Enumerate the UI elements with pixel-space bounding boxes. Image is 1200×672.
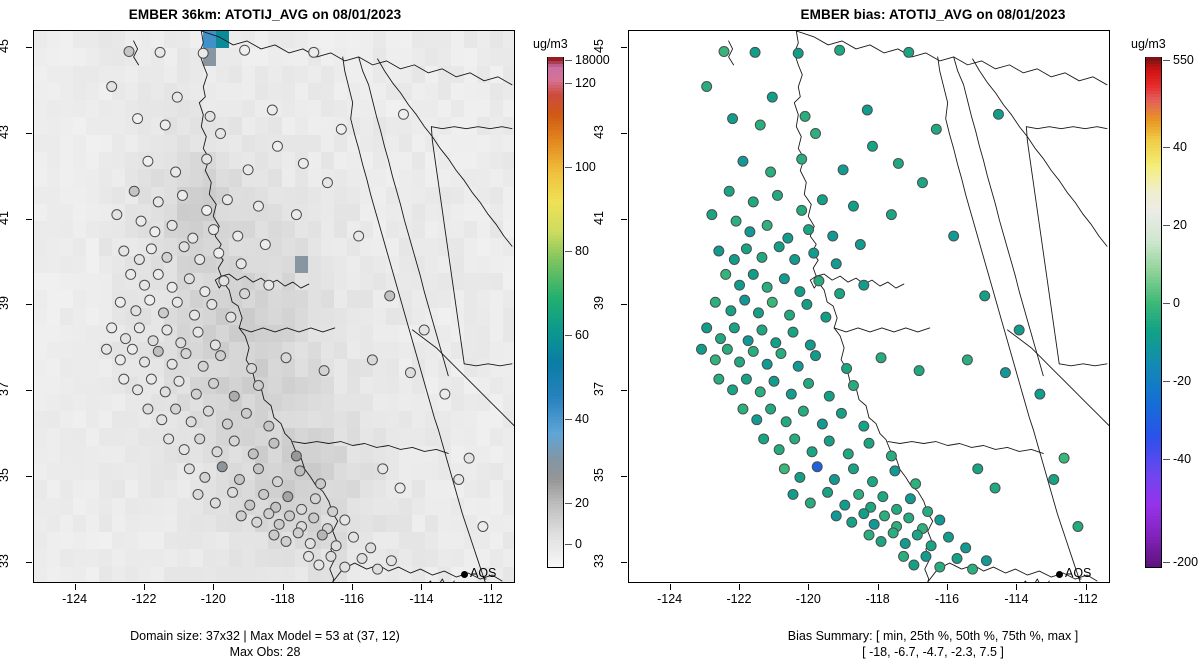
observation-point xyxy=(229,391,239,401)
observation-point xyxy=(721,269,731,279)
observation-point xyxy=(840,500,850,510)
observation-point xyxy=(759,434,769,444)
observation-point xyxy=(795,287,805,297)
observation-point xyxy=(158,308,168,318)
aqs-marker-icon xyxy=(461,571,468,578)
observation-point xyxy=(722,344,732,354)
observation-point xyxy=(878,492,888,502)
colorbar-unit-model: ug/m3 xyxy=(533,37,568,51)
x-axis-label: -122 xyxy=(709,592,769,606)
observation-point xyxy=(980,291,990,301)
observation-point xyxy=(829,474,839,484)
colorbar-tick-label: -40 xyxy=(1173,452,1191,466)
colorbar-tick xyxy=(1163,459,1170,460)
observation-point xyxy=(710,355,720,365)
observation-point xyxy=(1049,474,1059,484)
observation-point xyxy=(148,336,158,346)
observation-point xyxy=(876,353,886,363)
x-axis-tick xyxy=(283,584,284,590)
colorbar-gradient-bias xyxy=(1145,57,1162,568)
observation-point xyxy=(836,408,846,418)
colorbar-tick xyxy=(565,60,572,61)
x-axis-tick xyxy=(670,584,671,590)
observation-point xyxy=(707,210,717,220)
observation-point xyxy=(962,355,972,365)
observation-point xyxy=(179,445,189,455)
aqs-legend-label: AQS xyxy=(470,566,496,580)
colorbar-tick xyxy=(565,503,572,504)
observation-point xyxy=(961,543,971,553)
observation-point xyxy=(322,178,332,188)
y-axis-tick xyxy=(26,476,32,477)
observation-point xyxy=(762,359,772,369)
observation-point xyxy=(184,274,194,284)
observation-point xyxy=(260,240,270,250)
aqs-legend-label: AQS xyxy=(1065,566,1091,580)
observation-point xyxy=(973,464,983,474)
observation-point xyxy=(855,240,865,250)
aqs-observation-points-model xyxy=(34,31,514,582)
observation-point xyxy=(247,363,257,373)
colorbar-tick-label: 0 xyxy=(1173,296,1180,310)
colorbar-tick xyxy=(1163,381,1170,382)
observation-point xyxy=(864,530,874,540)
observation-point xyxy=(783,233,793,243)
y-axis-label: 41 xyxy=(0,198,11,238)
observation-point xyxy=(198,48,208,58)
observation-point xyxy=(304,551,314,561)
observation-point xyxy=(222,419,232,429)
observation-point xyxy=(952,554,962,564)
observation-point xyxy=(757,325,767,335)
observation-point xyxy=(464,453,474,463)
y-axis-label: 37 xyxy=(592,369,606,409)
observation-point xyxy=(131,306,141,316)
observation-point xyxy=(921,551,931,561)
observation-point xyxy=(202,154,212,164)
y-axis-tick xyxy=(26,304,32,305)
observation-point xyxy=(886,210,896,220)
y-axis-tick xyxy=(26,133,32,134)
x-axis-label: -114 xyxy=(986,592,1046,606)
observation-point xyxy=(273,141,283,151)
y-axis-label: 35 xyxy=(0,455,11,495)
observation-point xyxy=(385,291,395,301)
observation-point xyxy=(186,417,196,427)
observation-point xyxy=(1035,389,1045,399)
observation-point xyxy=(779,274,789,284)
observation-point xyxy=(888,528,898,538)
observation-point xyxy=(993,109,1003,119)
observation-point xyxy=(319,366,329,376)
observation-point xyxy=(797,205,807,215)
colorbar-tick-label: 40 xyxy=(575,412,589,426)
observation-point xyxy=(716,334,726,344)
observation-point xyxy=(731,216,741,226)
observation-point xyxy=(847,517,857,527)
figure-canvas: EMBER 36km: ATOTIJ_AVG on 08/01/2023 xyxy=(0,0,1200,672)
colorbar-tick xyxy=(1163,562,1170,563)
observation-point xyxy=(331,541,341,551)
observation-point xyxy=(729,323,739,333)
observation-point xyxy=(793,48,803,58)
observation-point xyxy=(309,513,319,523)
observation-point xyxy=(357,554,367,564)
observation-point xyxy=(366,543,376,553)
colorbar-tick-label: 550 xyxy=(1173,53,1194,67)
observation-point xyxy=(740,295,750,305)
observation-point xyxy=(184,464,194,474)
observation-point xyxy=(234,474,244,484)
y-axis-tick xyxy=(621,390,627,391)
observation-point xyxy=(219,276,229,286)
colorbar-tick xyxy=(565,251,572,252)
aqs-marker-icon xyxy=(1056,571,1063,578)
observation-point xyxy=(762,282,772,292)
observation-point xyxy=(817,195,827,205)
observation-point xyxy=(348,532,358,542)
observation-point xyxy=(217,462,227,472)
observation-point xyxy=(743,336,753,346)
observation-point xyxy=(214,248,224,258)
observation-point xyxy=(405,368,415,378)
observation-point xyxy=(440,389,450,399)
colorbar-tick-label: 20 xyxy=(575,496,589,510)
observation-point xyxy=(121,334,131,344)
observation-point xyxy=(824,391,834,401)
observation-point xyxy=(176,338,186,348)
observation-point xyxy=(811,129,821,139)
observation-point xyxy=(793,361,803,371)
observation-point xyxy=(340,562,350,572)
observation-point xyxy=(726,306,736,316)
observation-point xyxy=(134,254,144,264)
observation-point xyxy=(354,231,364,241)
observation-point xyxy=(714,374,724,384)
caption-bias: Bias Summary: [ min, 25th %, 50th %, 75t… xyxy=(668,628,1198,660)
observation-point xyxy=(297,504,307,514)
observation-point xyxy=(252,517,262,527)
observation-point xyxy=(198,361,208,371)
x-axis-label: -124 xyxy=(640,592,700,606)
colorbar-tick xyxy=(1163,303,1170,304)
observation-point xyxy=(714,246,724,256)
colorbar-tick-label: 20 xyxy=(1173,218,1187,232)
observation-point xyxy=(762,220,772,230)
observation-point xyxy=(757,252,767,262)
observation-point xyxy=(1073,522,1083,532)
x-axis-tick xyxy=(352,584,353,590)
observation-point xyxy=(419,325,429,335)
observation-point xyxy=(253,201,263,211)
observation-point xyxy=(236,259,246,269)
observation-point xyxy=(195,434,205,444)
observation-point xyxy=(200,472,210,482)
aqs-observation-points-bias xyxy=(629,31,1109,582)
observation-point xyxy=(171,167,181,177)
observation-point xyxy=(788,489,798,499)
observation-point xyxy=(317,530,327,540)
observation-point xyxy=(905,494,915,504)
x-axis-label: -120 xyxy=(183,592,243,606)
observation-point xyxy=(143,156,153,166)
observation-point xyxy=(824,436,834,446)
observation-point xyxy=(236,511,246,521)
observation-point xyxy=(127,344,137,354)
observation-point xyxy=(904,47,914,57)
observation-point xyxy=(795,472,805,482)
y-axis-label: 33 xyxy=(592,541,606,581)
observation-point xyxy=(190,310,200,320)
observation-point xyxy=(935,562,945,572)
x-axis-label: -116 xyxy=(322,592,382,606)
observation-point xyxy=(295,466,305,476)
y-axis-tick xyxy=(621,219,627,220)
observation-point xyxy=(248,449,258,459)
observation-point xyxy=(812,462,822,472)
x-axis-label: -118 xyxy=(253,592,313,606)
colorbar-tick xyxy=(565,419,572,420)
observation-point xyxy=(160,120,170,130)
colorbar-tick xyxy=(565,83,572,84)
observation-point xyxy=(129,186,139,196)
observation-point xyxy=(741,374,751,384)
y-axis-tick xyxy=(621,476,627,477)
observation-point xyxy=(800,111,810,121)
observation-point xyxy=(195,254,205,264)
observation-point xyxy=(776,349,786,359)
caption-line-1: Domain size: 37x32 | Max Model = 53 at (… xyxy=(0,628,530,644)
observation-point xyxy=(291,210,301,220)
x-axis-label: -116 xyxy=(917,592,977,606)
observation-point xyxy=(1014,325,1024,335)
observation-point xyxy=(943,532,953,542)
panel-title-bias: EMBER bias: ATOTIJ_AVG on 08/01/2023 xyxy=(668,7,1198,22)
observation-point xyxy=(890,466,900,476)
x-axis-tick xyxy=(213,584,214,590)
observation-point xyxy=(124,47,134,57)
observation-point xyxy=(1059,453,1069,463)
observation-point xyxy=(107,323,117,333)
observation-point xyxy=(862,105,872,115)
observation-point xyxy=(115,355,125,365)
observation-point xyxy=(264,280,274,290)
x-axis-label: -122 xyxy=(114,592,174,606)
observation-point xyxy=(112,210,122,220)
observation-point xyxy=(243,165,253,175)
observation-point xyxy=(848,464,858,474)
observation-point xyxy=(226,312,236,322)
observation-point xyxy=(119,374,129,384)
observation-point xyxy=(838,165,848,175)
observation-point xyxy=(145,295,155,305)
y-axis-tick xyxy=(621,47,627,48)
observation-point xyxy=(134,323,144,333)
colorbar-tick-label: -20 xyxy=(1173,374,1191,388)
observation-point xyxy=(817,419,827,429)
observation-point xyxy=(153,269,163,279)
observation-point xyxy=(748,346,758,356)
observation-point xyxy=(766,167,776,177)
observation-point xyxy=(766,404,776,414)
observation-point xyxy=(395,483,405,493)
observation-point xyxy=(273,477,283,487)
observation-point xyxy=(367,355,377,365)
observation-point xyxy=(876,536,886,546)
y-axis-tick xyxy=(621,133,627,134)
observation-point xyxy=(102,344,112,354)
colorbar-segment xyxy=(1146,57,1161,61)
x-axis-label: -118 xyxy=(848,592,908,606)
x-axis-tick xyxy=(808,584,809,590)
observation-point xyxy=(790,254,800,264)
y-axis-tick xyxy=(26,219,32,220)
observation-point xyxy=(738,404,748,414)
y-axis-tick xyxy=(26,47,32,48)
observation-point xyxy=(136,216,146,226)
panel-bias: EMBER bias: ATOTIJ_AVG on 08/01/2023 xyxy=(600,0,1200,672)
observation-point xyxy=(274,519,284,529)
observation-point xyxy=(880,511,890,521)
observation-point xyxy=(153,197,163,207)
observation-point xyxy=(917,178,927,188)
observation-point xyxy=(209,225,219,235)
observation-point xyxy=(755,120,765,130)
observation-point xyxy=(868,141,878,151)
x-axis-label: -114 xyxy=(391,592,451,606)
observation-point xyxy=(107,82,117,92)
observation-point xyxy=(848,381,858,391)
observation-point xyxy=(240,289,250,299)
x-axis-tick xyxy=(947,584,948,590)
observation-point xyxy=(869,519,879,529)
observation-point xyxy=(340,515,350,525)
observation-point xyxy=(774,445,784,455)
observation-point xyxy=(854,489,864,499)
observation-point xyxy=(328,507,338,517)
observation-point xyxy=(892,504,902,514)
y-axis-label: 43 xyxy=(0,112,11,152)
observation-point xyxy=(336,124,346,134)
observation-point xyxy=(805,498,815,508)
y-axis-tick xyxy=(621,304,627,305)
observation-point xyxy=(811,351,821,361)
observation-point xyxy=(828,231,838,241)
observation-point xyxy=(735,280,745,290)
x-axis-tick xyxy=(739,584,740,590)
colorbar-tick xyxy=(565,335,572,336)
observation-point xyxy=(745,227,755,237)
y-axis-label: 45 xyxy=(592,26,606,66)
observation-point xyxy=(200,287,210,297)
observation-point xyxy=(710,297,720,307)
observation-point xyxy=(140,280,150,290)
observation-point xyxy=(738,156,748,166)
observation-point xyxy=(926,541,936,551)
observation-point xyxy=(859,280,869,290)
observation-point xyxy=(779,464,789,474)
observation-point xyxy=(702,82,712,92)
panel-title-model: EMBER 36km: ATOTIJ_AVG on 08/01/2023 xyxy=(0,7,530,22)
x-axis-tick xyxy=(75,584,76,590)
colorbar-segment xyxy=(548,57,563,61)
x-axis-tick xyxy=(1016,584,1017,590)
observation-point xyxy=(981,556,991,566)
caption-line-2: Max Obs: 28 xyxy=(0,644,530,660)
colorbar-tick xyxy=(565,544,572,545)
observation-point xyxy=(1000,368,1010,378)
observation-point xyxy=(202,205,212,215)
observation-point xyxy=(291,451,301,461)
observation-point xyxy=(193,327,203,337)
observation-point xyxy=(859,421,869,431)
observation-point xyxy=(949,231,959,241)
x-axis-tick xyxy=(878,584,879,590)
observation-point xyxy=(935,515,945,525)
colorbar-unit-bias: ug/m3 xyxy=(1131,37,1166,51)
observation-point xyxy=(172,92,182,102)
x-axis-label: -112 xyxy=(461,592,521,606)
y-axis-label: 37 xyxy=(0,369,11,409)
observation-point xyxy=(210,340,220,350)
observation-point xyxy=(797,154,807,164)
observation-point xyxy=(773,190,783,200)
observation-point xyxy=(790,434,800,444)
observation-point xyxy=(386,556,396,566)
observation-point xyxy=(911,479,921,489)
observation-point xyxy=(823,487,833,497)
observation-point xyxy=(267,105,277,115)
observation-point xyxy=(119,246,129,256)
observation-point xyxy=(162,325,172,335)
observation-point xyxy=(193,489,203,499)
colorbar-tick xyxy=(1163,60,1170,61)
observation-point xyxy=(990,483,1000,493)
observation-point xyxy=(126,269,136,279)
observation-point xyxy=(174,376,184,386)
x-axis-label: -112 xyxy=(1056,592,1116,606)
observation-point xyxy=(868,477,878,487)
observation-point xyxy=(240,45,250,55)
colorbar-tick xyxy=(565,167,572,168)
y-axis-label: 35 xyxy=(592,455,606,495)
observation-point xyxy=(785,310,795,320)
observation-point xyxy=(735,357,745,367)
observation-point xyxy=(809,248,819,258)
observation-point xyxy=(146,244,156,254)
observation-point xyxy=(233,231,243,241)
observation-point xyxy=(153,346,163,356)
observation-point xyxy=(167,282,177,292)
observation-point xyxy=(181,349,191,359)
observation-point xyxy=(155,47,165,57)
observation-point xyxy=(160,387,170,397)
colorbar-tick-label: 120 xyxy=(575,76,596,90)
observation-point xyxy=(805,340,815,350)
observation-point xyxy=(203,406,213,416)
observation-point xyxy=(478,522,488,532)
observation-point xyxy=(253,464,263,474)
observation-point xyxy=(373,564,383,574)
observation-point xyxy=(697,344,707,354)
observation-point xyxy=(729,254,739,264)
observation-point xyxy=(398,109,408,119)
observation-point xyxy=(781,417,791,427)
observation-point xyxy=(724,186,734,196)
observation-point xyxy=(216,351,226,361)
observation-point xyxy=(864,438,874,448)
y-axis-label: 41 xyxy=(592,198,606,238)
